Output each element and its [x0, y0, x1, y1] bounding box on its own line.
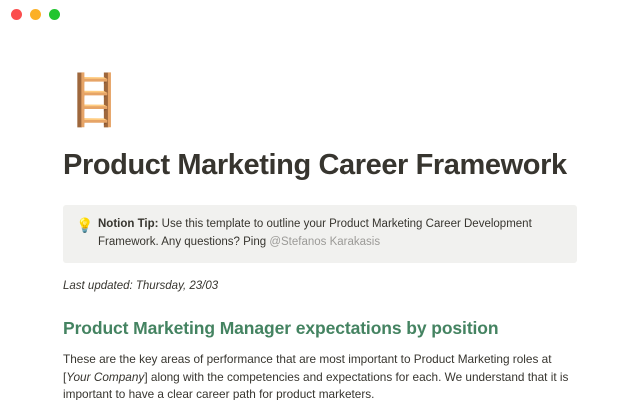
callout-label: Notion Tip: — [98, 218, 158, 230]
section-heading[interactable]: Product Marketing Manager expectations b… — [63, 317, 577, 340]
close-window-button[interactable] — [11, 9, 22, 20]
lightbulb-icon: 💡 — [76, 216, 98, 234]
document-content: 🪜 Product Marketing Career Framework 💡 N… — [0, 75, 640, 400]
notion-tip-callout[interactable]: 💡 Notion Tip: Use this template to outli… — [63, 205, 577, 263]
intro-paragraph: These are the key areas of performance t… — [63, 351, 573, 400]
traffic-light-group — [11, 9, 60, 20]
minimize-window-button[interactable] — [30, 9, 41, 20]
window-titlebar — [0, 0, 640, 29]
last-updated-text: Last updated: Thursday, 23/03 — [63, 278, 577, 295]
maximize-window-button[interactable] — [49, 9, 60, 20]
callout-text: Notion Tip: Use this template to outline… — [98, 216, 563, 251]
paragraph-emphasis: Your Company — [66, 370, 144, 384]
page-title[interactable]: Product Marketing Career Framework — [63, 147, 577, 183]
user-mention[interactable]: @Stefanos Karakasis — [269, 236, 380, 248]
app-window: 🪜 Product Marketing Career Framework 💡 N… — [0, 0, 640, 400]
ladder-icon[interactable]: 🪜 — [63, 75, 577, 133]
